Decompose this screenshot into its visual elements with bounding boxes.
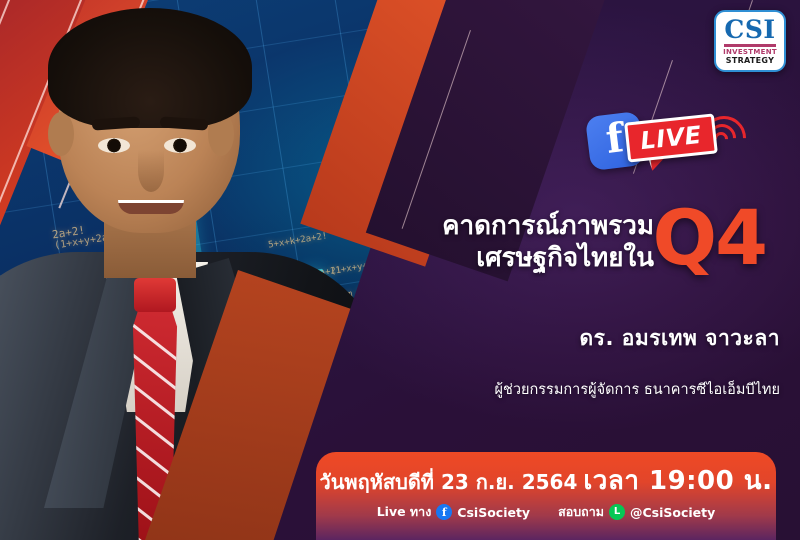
- facebook-link[interactable]: Live ทาง f CsiSociety: [377, 502, 530, 522]
- csi-logo[interactable]: CSI INVESTMENT STRATEGY: [714, 10, 786, 72]
- facebook-f-glyph: f: [604, 118, 626, 160]
- line-prefix-label: สอบถาม: [558, 502, 604, 522]
- mouth: [118, 200, 184, 214]
- csi-logo-wordmark: CSI: [724, 17, 775, 42]
- facebook-handle: CsiSociety: [457, 505, 530, 520]
- necktie-knot: [134, 278, 176, 312]
- hair: [48, 8, 252, 128]
- schedule-banner: วันพฤหัสบดีที่ 23 ก.ย. 2564เวลา 19:00 น.…: [316, 452, 776, 540]
- facebook-live-badge[interactable]: f LIVE: [588, 104, 758, 178]
- headline-line-1: คาดการณ์ภาพรวม: [418, 212, 654, 241]
- csi-logo-subtitle-strategy: STRATEGY: [726, 56, 774, 65]
- live-label-box: LIVE: [624, 113, 718, 162]
- live-announcement-poster: (1+x+y+2a)2a+2!>05+x+k+2a+2!(1+x+y+2a)-(…: [0, 0, 800, 540]
- social-links: Live ทาง f CsiSociety สอบถาม L @CsiSocie…: [316, 502, 776, 522]
- speaker-name: ดร. อมรเทพ จาวะลา: [580, 322, 780, 355]
- line-link[interactable]: สอบถาม L @CsiSociety: [558, 502, 715, 522]
- ear-left: [48, 112, 74, 156]
- line-icon: L: [609, 504, 625, 520]
- live-label: LIVE: [639, 123, 702, 153]
- nose: [138, 150, 164, 192]
- headline-quarter: Q4: [653, 200, 767, 276]
- schedule-date: วันพฤหัสบดีที่ 23 ก.ย. 2564: [320, 470, 578, 494]
- schedule-datetime: วันพฤหัสบดีที่ 23 ก.ย. 2564เวลา 19:00 น.: [316, 460, 776, 501]
- pupil-left: [109, 140, 120, 151]
- csi-logo-subtitle-investment: INVESTMENT: [723, 48, 777, 56]
- facebook-prefix-label: Live ทาง: [377, 502, 432, 522]
- speaker-title: ผู้ช่วยกรรมการผู้จัดการ ธนาคารซีไอเอ็มบี…: [495, 378, 780, 401]
- headline-line-2: เศรษฐกิจไทยใน: [418, 244, 654, 273]
- facebook-icon: f: [436, 504, 452, 520]
- schedule-time: เวลา 19:00 น.: [583, 466, 772, 496]
- headline-block: คาดการณ์ภาพรวม เศรษฐกิจไทยใน Q4: [418, 212, 780, 298]
- headline-text: คาดการณ์ภาพรวม เศรษฐกิจไทยใน: [418, 212, 654, 273]
- line-handle: @CsiSociety: [630, 505, 715, 520]
- pupil-right: [175, 140, 186, 151]
- csi-logo-divider: [724, 44, 776, 47]
